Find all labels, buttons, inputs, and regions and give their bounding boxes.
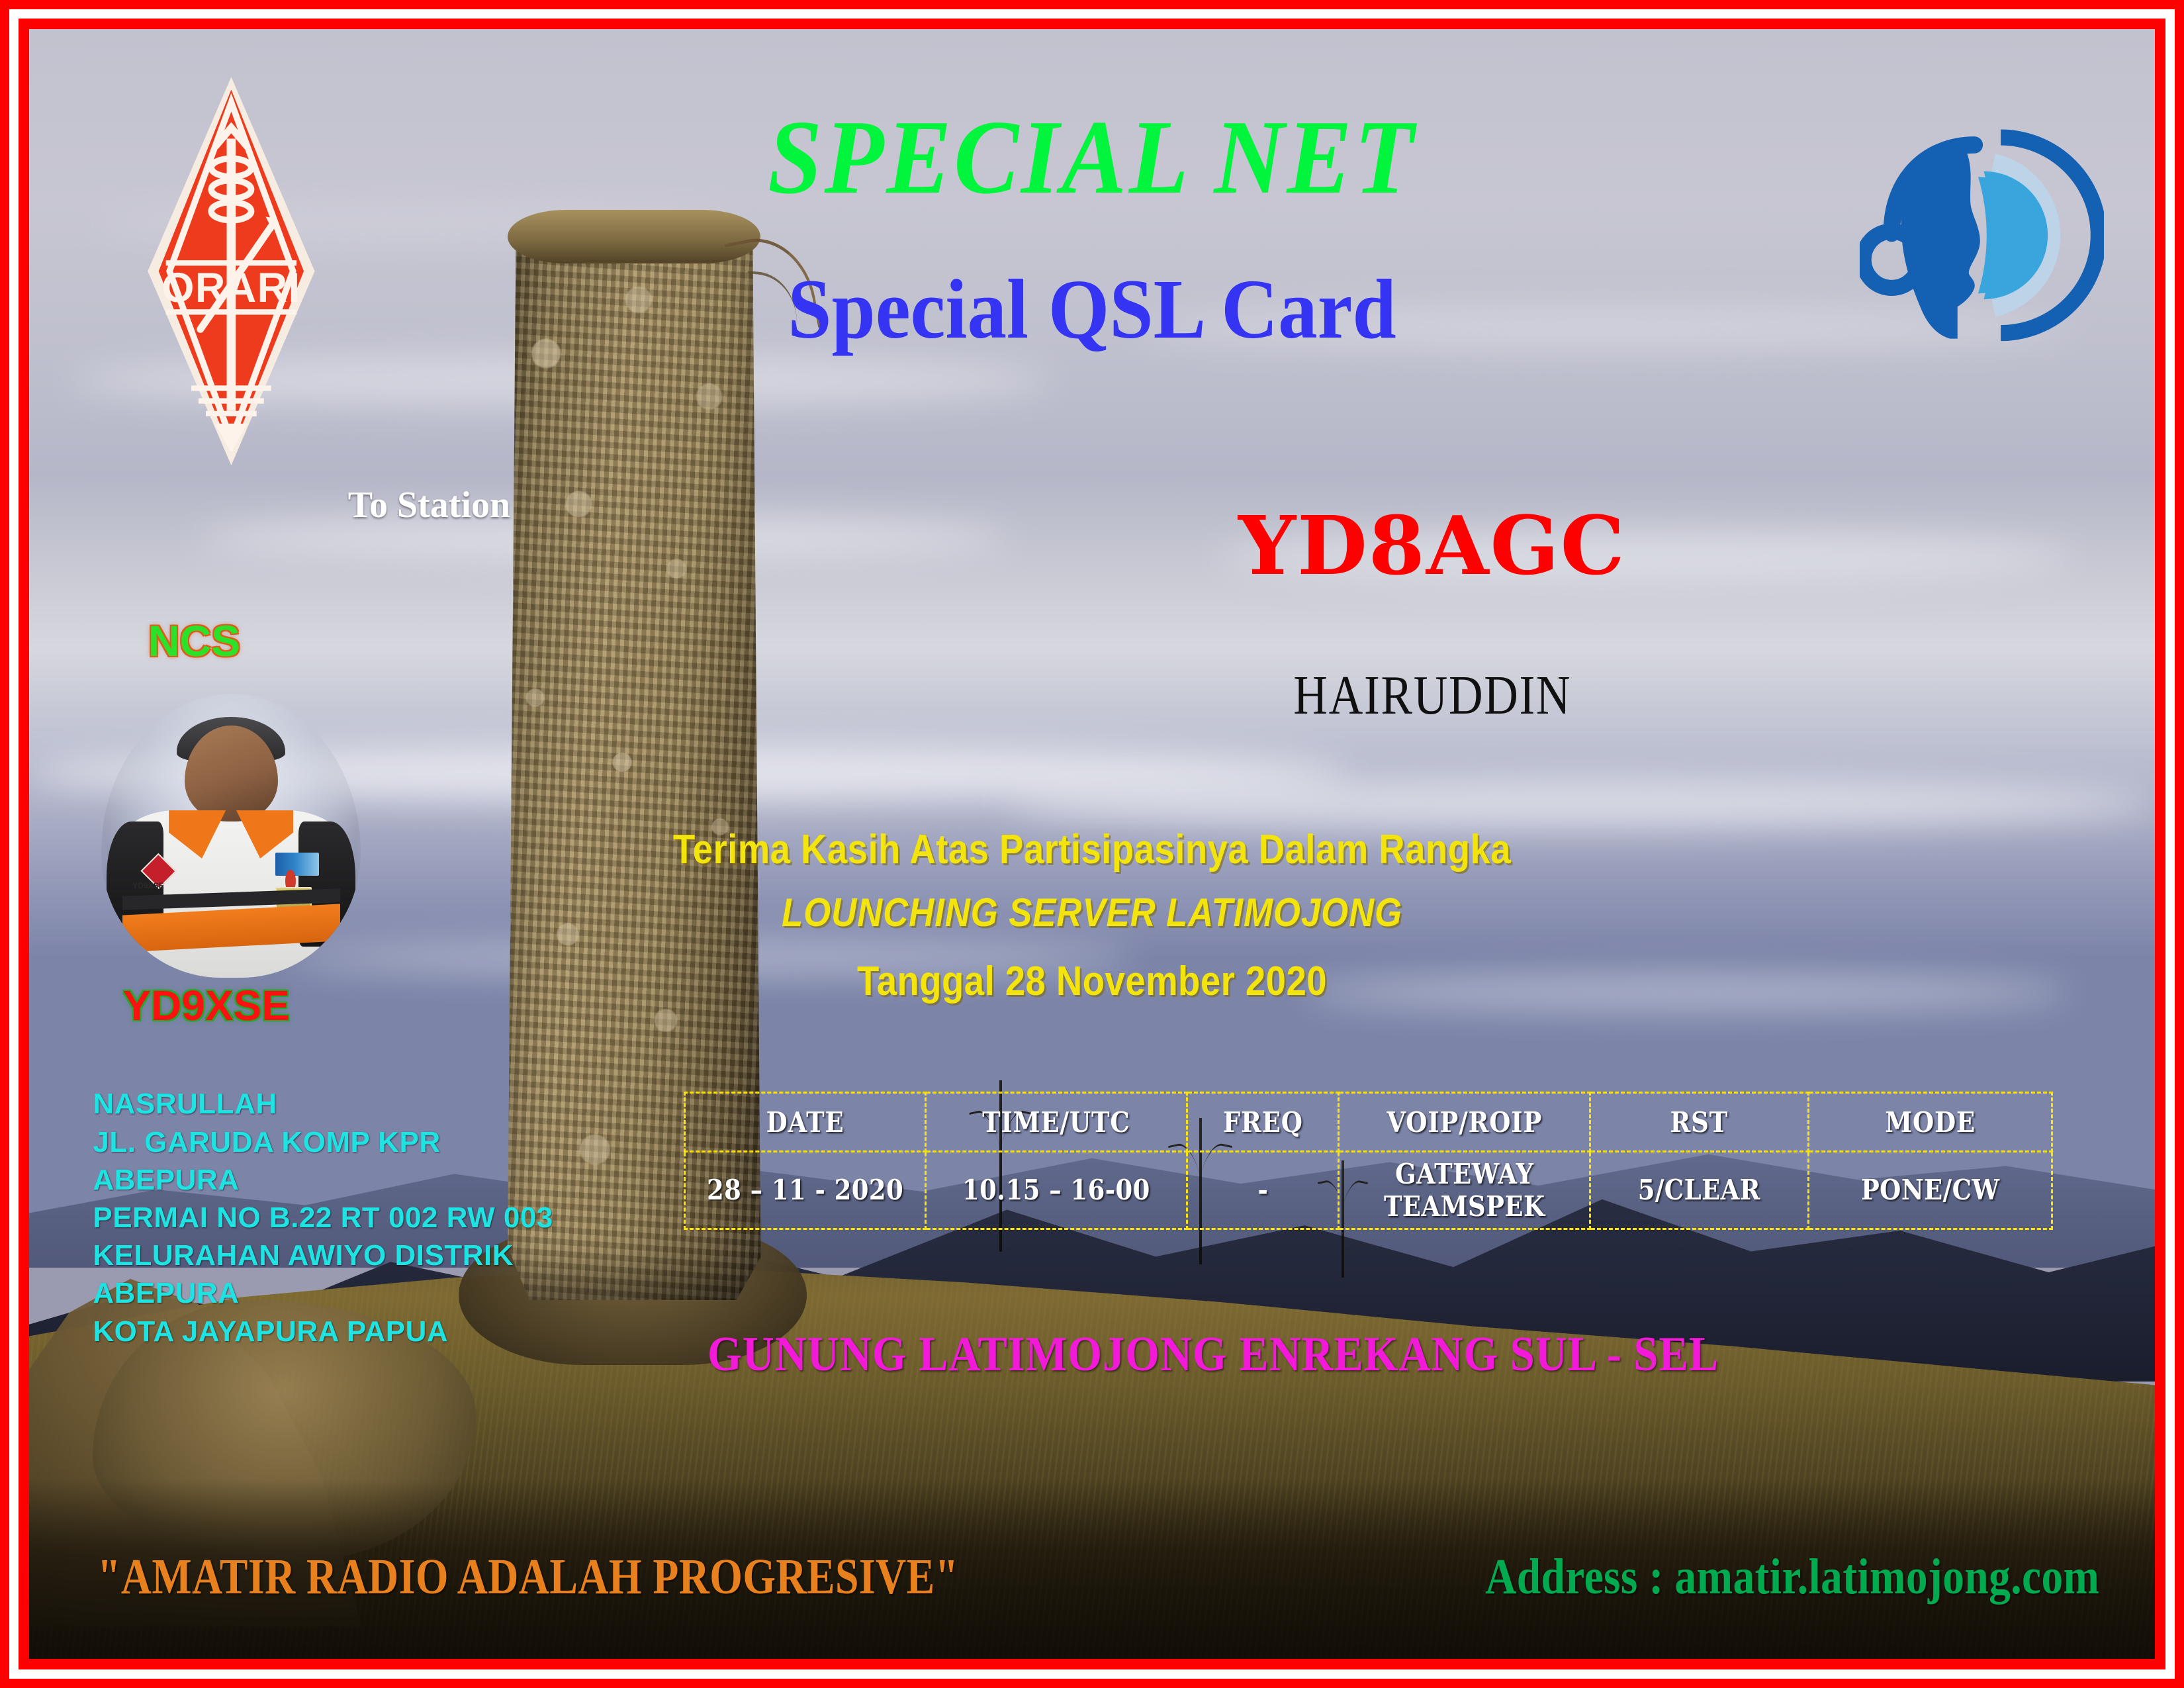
cell-date: 28 – 11 - 2020 bbox=[700, 1152, 911, 1229]
column-header-rst: RST bbox=[1603, 1093, 1796, 1152]
column-header-voip-roip: VOIP/ROIP bbox=[1353, 1093, 1574, 1152]
column-header-mode: MODE bbox=[1823, 1093, 2037, 1152]
cell-voip-line-1: GATEWAY bbox=[1355, 1158, 1574, 1191]
cell-mode: PONE/CW bbox=[1823, 1152, 2037, 1229]
address-line: NASRULLAH bbox=[93, 1085, 553, 1123]
qso-details-table: DATE TIME/UTC FREQ VOIP/ROIP RST MODE 28… bbox=[684, 1092, 2053, 1230]
to-station-label: To Station bbox=[348, 484, 510, 526]
address-line: JL. GARUDA KOMP KPR bbox=[93, 1123, 553, 1161]
cell-voip-roip: GATEWAY TEAMSPEK bbox=[1353, 1152, 1574, 1229]
thanks-line-3-date: Tanggal 28 November 2020 bbox=[157, 961, 2028, 1002]
column-header-date: DATE bbox=[700, 1093, 911, 1152]
cairn-top bbox=[508, 210, 760, 263]
station-callsign: YD8AGC bbox=[837, 505, 2028, 586]
cell-time-utc: 10.15 – 16-00 bbox=[941, 1152, 1171, 1229]
cloud-band bbox=[1007, 779, 2155, 828]
cell-rst: 5/CLEAR bbox=[1603, 1152, 1796, 1229]
page-title-special-net: SPECIAL NET bbox=[114, 104, 2070, 210]
column-header-freq: FREQ bbox=[1197, 1093, 1330, 1152]
column-header-time-utc: TIME/UTC bbox=[941, 1093, 1171, 1152]
address-line: ABEPURA bbox=[93, 1274, 553, 1312]
qsl-card-inner-frame: ORARI bbox=[19, 19, 2165, 1669]
footer-website-address: Address : amatir.latimojong.com bbox=[1485, 1548, 2099, 1606]
ncs-label: NCS bbox=[148, 616, 240, 666]
thanks-line-2-event: LOUNCHING SERVER LATIMOJONG bbox=[157, 893, 2028, 933]
location-label: GUNUNG LATIMOJONG ENREKANG SUL - SEL bbox=[707, 1327, 2018, 1383]
address-line: KOTA JAYAPURA PAPUA bbox=[93, 1313, 553, 1350]
avatar-callsign-embroidery: YD9XSE bbox=[132, 881, 163, 890]
footer-motto: "AMATIR RADIO ADALAH PROGRESIVE" bbox=[97, 1548, 959, 1606]
thanks-line-1: Terima Kasih Atas Partisipasinya Dalam R… bbox=[157, 829, 2028, 870]
cell-voip-line-2: TEAMSPEK bbox=[1355, 1190, 1574, 1223]
qsl-card-background-photo: ORARI bbox=[29, 29, 2155, 1659]
table-row: 28 – 11 - 2020 10.15 – 16-00 - GATEWAY T… bbox=[685, 1152, 2052, 1229]
address-block: NASRULLAH JL. GARUDA KOMP KPR ABEPURA PE… bbox=[93, 1085, 553, 1350]
cell-freq: - bbox=[1197, 1152, 1330, 1229]
page-subtitle-qsl-card: Special QSL Card bbox=[103, 267, 2080, 352]
address-line: PERMAI NO B.22 RT 002 RW 003 bbox=[93, 1199, 553, 1237]
address-line: ABEPURA bbox=[93, 1161, 553, 1199]
qsl-card-frame-gap: ORARI bbox=[9, 9, 2175, 1679]
table-header-row: DATE TIME/UTC FREQ VOIP/ROIP RST MODE bbox=[685, 1093, 2052, 1152]
operator-name: HAIRUDDIN bbox=[926, 668, 1938, 724]
qsl-card-outer-frame: ORARI bbox=[0, 0, 2184, 1688]
address-line: KELURAHAN AWIYO DISTRIK bbox=[93, 1237, 553, 1274]
